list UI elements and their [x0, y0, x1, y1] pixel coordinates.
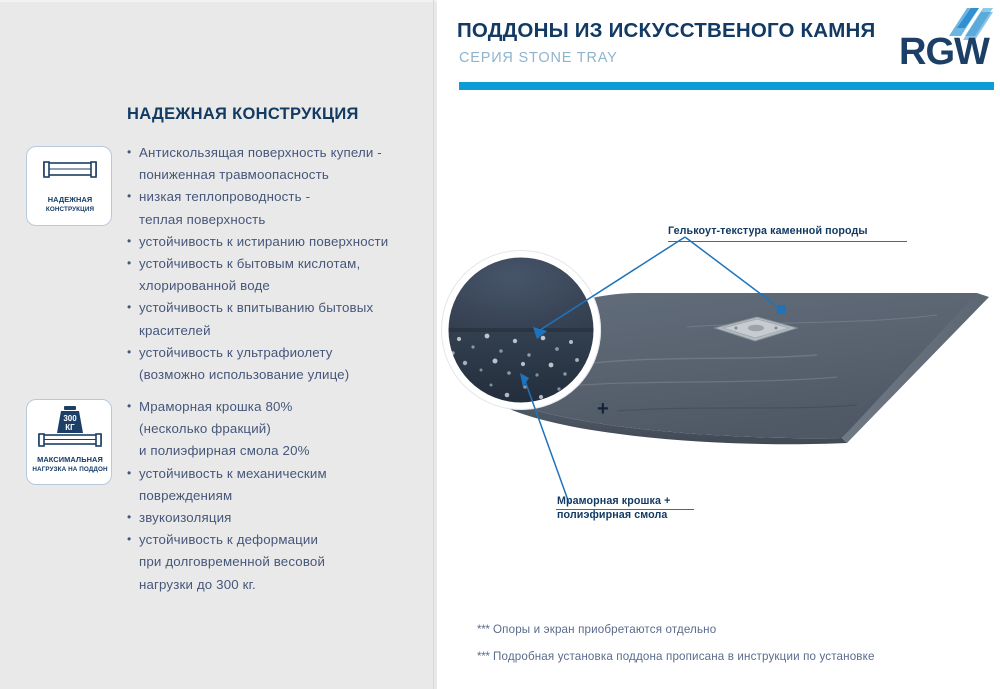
- feature-material-item: Мраморная крошка 80%(несколько фракций) …: [127, 396, 432, 463]
- header-accent-rule: [459, 82, 994, 90]
- callout-gelcoat-label: Гелькоут-текстура каменной породы: [668, 225, 868, 237]
- footnote-2-text: Подробная установка поддона прописана в …: [493, 650, 875, 663]
- svg-text:КГ: КГ: [65, 423, 75, 432]
- badge-2-caption-main: МАКСИМАЛЬНАЯ: [37, 455, 103, 464]
- callout-gelcoat: Гелькоут-текстура каменной породы: [668, 225, 868, 239]
- badge-1-caption-main: НАДЕЖНАЯ: [48, 195, 93, 204]
- feature-reliable-item: Антискользящая поверхность купели -пониж…: [127, 142, 432, 186]
- badge-1-caption: НАДЕЖНАЯ КОНСТРУКЦИЯ: [27, 195, 113, 214]
- badge-reliable-construction: НАДЕЖНАЯ КОНСТРУКЦИЯ: [26, 146, 112, 226]
- weight-load-icon: 300 КГ: [27, 400, 113, 454]
- callout-marble-underline: [556, 509, 694, 510]
- footnote-1-text: Опоры и экран приобретаются отдельно: [493, 623, 716, 636]
- badge-2-caption-sub: НАГРУЗКА НА ПОДДОН: [27, 465, 113, 475]
- shower-tray-graphic: +: [437, 215, 1000, 545]
- badge-2-caption: МАКСИМАЛЬНАЯ НАГРУЗКА НА ПОДДОН: [27, 455, 113, 474]
- feature-material-item: устойчивость к деформациипри долговремен…: [127, 529, 432, 596]
- footnote-1-stars: ***: [477, 623, 490, 636]
- rgw-logo: RGW: [897, 6, 993, 70]
- rgw-logo-icon: RGW: [897, 6, 993, 70]
- callout-marble-line-1: Мраморная крошка +: [557, 495, 670, 509]
- callout-gelcoat-underline: [668, 241, 907, 242]
- feature-reliable-item: низкая теплопроводность - теплая поверхн…: [127, 186, 432, 230]
- feature-reliable-item: устойчивость к бытовым кислотам,хлориров…: [127, 253, 432, 297]
- badge-1-caption-sub: КОНСТРУКЦИЯ: [27, 205, 113, 215]
- feature-list-material: Мраморная крошка 80%(несколько фракций) …: [127, 396, 432, 596]
- feature-material-item: устойчивость к механическимповреждениям: [127, 463, 432, 507]
- callout-marble-line-2: полиэфирная смола: [557, 509, 670, 523]
- magnifier-plus-sign: +: [597, 398, 609, 420]
- feature-reliable-item: устойчивость к ультрафиолету(возможно ис…: [127, 342, 432, 386]
- product-illustration: +: [437, 215, 1000, 545]
- page-title: ПОДДОНЫ ИЗ ИСКУССТВЕНОГО КАМНЯ: [457, 19, 876, 43]
- feature-reliable-item: устойчивость к впитыванию бытовыхкрасите…: [127, 297, 432, 341]
- svg-text:RGW: RGW: [899, 31, 990, 70]
- svg-text:300: 300: [63, 414, 77, 423]
- left-section-heading: НАДЕЖНАЯ КОНСТРУКЦИЯ: [127, 105, 359, 124]
- feature-material-item: звукоизоляция: [127, 507, 432, 529]
- panel-vertical-divider: [433, 0, 434, 689]
- page-subtitle: СЕРИЯ STONE TRAY: [459, 50, 618, 66]
- feature-list-reliable: Антискользящая поверхность купели -пониж…: [127, 142, 432, 386]
- tray-profile-icon: [27, 147, 113, 193]
- feature-reliable-item: устойчивость к истиранию поверхности: [127, 231, 432, 253]
- footnote-2-stars: ***: [477, 650, 490, 663]
- page-root: ПОДДОНЫ ИЗ ИСКУССТВЕНОГО КАМНЯ СЕРИЯ STO…: [0, 0, 1000, 689]
- footnote-installation: *** Подробная установка поддона прописан…: [477, 650, 875, 663]
- footnote-supports: *** Опоры и экран приобретаются отдельно: [477, 623, 716, 636]
- badge-max-load: 300 КГ МАКСИМАЛЬНАЯ НАГРУЗКА НА ПОДДОН: [26, 399, 112, 485]
